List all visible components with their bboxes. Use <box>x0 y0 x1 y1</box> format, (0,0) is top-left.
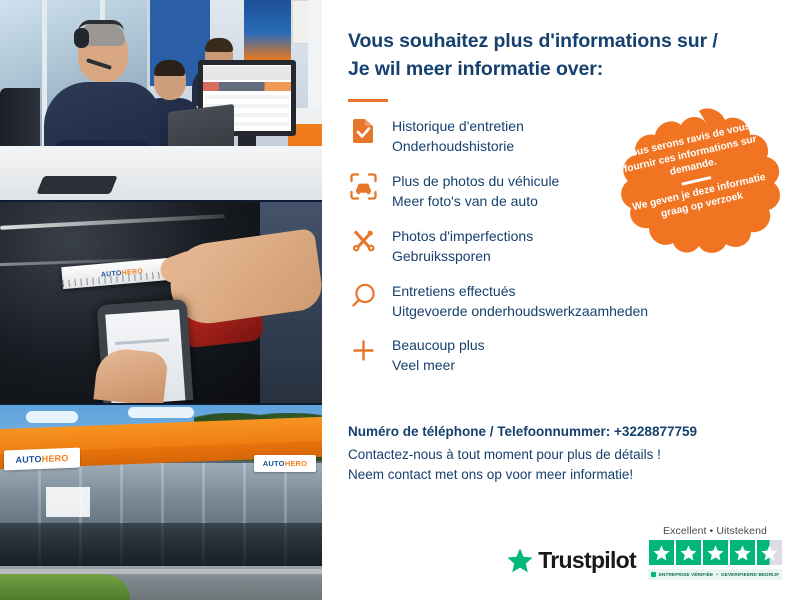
headline-line-fr: Vous souhaitez plus d'informations sur / <box>348 28 778 56</box>
contact-line-fr: Contactez-nous à tout moment pour plus d… <box>348 445 788 465</box>
verified-badge: ENTREPRISE VÉRIFIÉE • GEVERIFIEERD BEDRI… <box>648 569 782 580</box>
trustpilot-star-icon <box>649 540 674 565</box>
contact-line-nl: Neem contact met ons op voor meer inform… <box>348 465 788 485</box>
tools-cross-icon <box>348 226 378 256</box>
headline-line-nl: Je wil meer informatie over: <box>348 56 778 84</box>
contact-block: Numéro de téléphone / Telefoonnummer: +3… <box>348 424 788 486</box>
autohero-sign-right: AUTOHERO <box>254 455 316 472</box>
star-rating <box>649 540 782 565</box>
photo-column: AUTOHERO <box>0 0 322 600</box>
list-item-text: Photos d'imperfections Gebruikssporen <box>392 226 533 267</box>
trustpilot-star-icon <box>676 540 701 565</box>
list-item: Entretiens effectués Uitgevoerde onderho… <box>348 281 778 322</box>
autohero-sign-left: AUTOHERO <box>4 448 80 471</box>
rating-label: Excellent • Uitstekend <box>663 525 767 537</box>
trustpilot-wordmark: Trustpilot <box>538 547 636 574</box>
list-item-text: Plus de photos du véhicule Meer foto's v… <box>392 171 559 212</box>
page-title: Vous souhaitez plus d'informations sur /… <box>348 28 778 83</box>
call-center-photo <box>0 0 322 200</box>
trustpilot-star-icon-half <box>757 540 782 565</box>
verified-separator: • <box>716 572 718 577</box>
trustpilot-star-icon <box>507 548 533 573</box>
dealership-showroom-photo: AUTOHERO AUTOHERO <box>0 405 322 600</box>
title-underline <box>348 99 388 102</box>
verified-text-fr: ENTREPRISE VÉRIFIÉE <box>659 572 713 577</box>
list-item: Beaucoup plus Veel meer <box>348 335 778 376</box>
vehicle-inspection-photo: AUTOHERO <box>0 202 322 403</box>
status-badge: Nous serons ravis de vous fournir ces in… <box>610 108 788 276</box>
magnifier-icon <box>348 281 378 311</box>
check-icon <box>651 572 656 577</box>
trustpilot-widget[interactable]: Trustpilot Excellent • Uitstekend <box>507 525 782 580</box>
trustpilot-star-icon <box>703 540 728 565</box>
plus-icon <box>348 335 378 365</box>
verified-text-nl: GEVERIFIEERD BEDRIJF <box>721 572 779 577</box>
car-scan-icon <box>348 171 378 201</box>
list-item-text: Beaucoup plus Veel meer <box>392 335 485 376</box>
trustpilot-rating: Excellent • Uitstekend <box>648 525 782 580</box>
trustpilot-star-icon <box>730 540 755 565</box>
phone-number: Numéro de téléphone / Telefoonnummer: +3… <box>348 424 788 439</box>
list-item-text: Historique d'entretien Onderhoudshistori… <box>392 116 524 157</box>
flyer-page: AUTOHERO <box>0 0 800 600</box>
document-check-icon <box>348 116 378 146</box>
trustpilot-logo: Trustpilot <box>507 547 636 580</box>
content-panel: Vous souhaitez plus d'informations sur /… <box>322 0 800 600</box>
list-item-text: Entretiens effectués Uitgevoerde onderho… <box>392 281 648 322</box>
